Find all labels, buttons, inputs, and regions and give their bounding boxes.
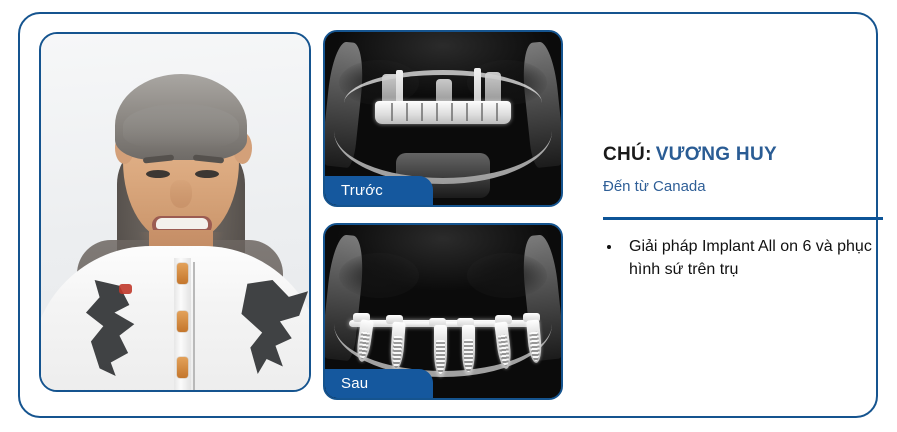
eye-right xyxy=(195,170,219,178)
shirt-ink-art-accent xyxy=(119,284,132,294)
eye-left xyxy=(146,170,170,178)
nose xyxy=(170,180,192,208)
sinus-right xyxy=(467,253,547,298)
testimonial-card: Trước Sau CHÚ:VƯƠNG xyxy=(18,12,878,418)
info-divider xyxy=(603,217,883,220)
patient-name-line: CHÚ:VƯƠNG HUY xyxy=(603,144,777,166)
patient-photo-frame xyxy=(39,32,311,392)
dental-bridge xyxy=(375,101,512,123)
treatment-list-item: Giải pháp Implant All on 6 và phục hình … xyxy=(603,236,879,281)
xray-before-frame: Trước xyxy=(323,30,563,207)
implant-screw-4 xyxy=(462,325,475,375)
patient-hair xyxy=(115,74,247,160)
shirt-button-2 xyxy=(177,311,188,332)
bullet-icon xyxy=(607,245,611,249)
implant-screw-3 xyxy=(434,325,447,377)
patient-info-panel: CHÚ:VƯƠNG HUY Đến từ Canada Giải pháp Im… xyxy=(582,14,880,416)
treatment-text: Giải pháp Implant All on 6 và phục hình … xyxy=(629,238,872,278)
shirt-button-1 xyxy=(177,263,188,284)
xray-before-badge: Trước xyxy=(325,176,433,205)
teeth xyxy=(156,218,208,229)
xray-after-frame: Sau xyxy=(323,223,563,400)
patient-photo xyxy=(41,34,309,390)
sinus-left xyxy=(339,253,419,298)
xray-after-badge: Sau xyxy=(325,369,433,398)
patient-origin: Đến từ Canada xyxy=(603,178,706,195)
shirt-seam xyxy=(193,262,195,390)
patient-name: VƯƠNG HUY xyxy=(656,144,777,165)
treatment-list: Giải pháp Implant All on 6 và phục hình … xyxy=(603,236,879,281)
shirt-button-3 xyxy=(177,357,188,378)
patient-label: CHÚ: xyxy=(603,144,652,165)
